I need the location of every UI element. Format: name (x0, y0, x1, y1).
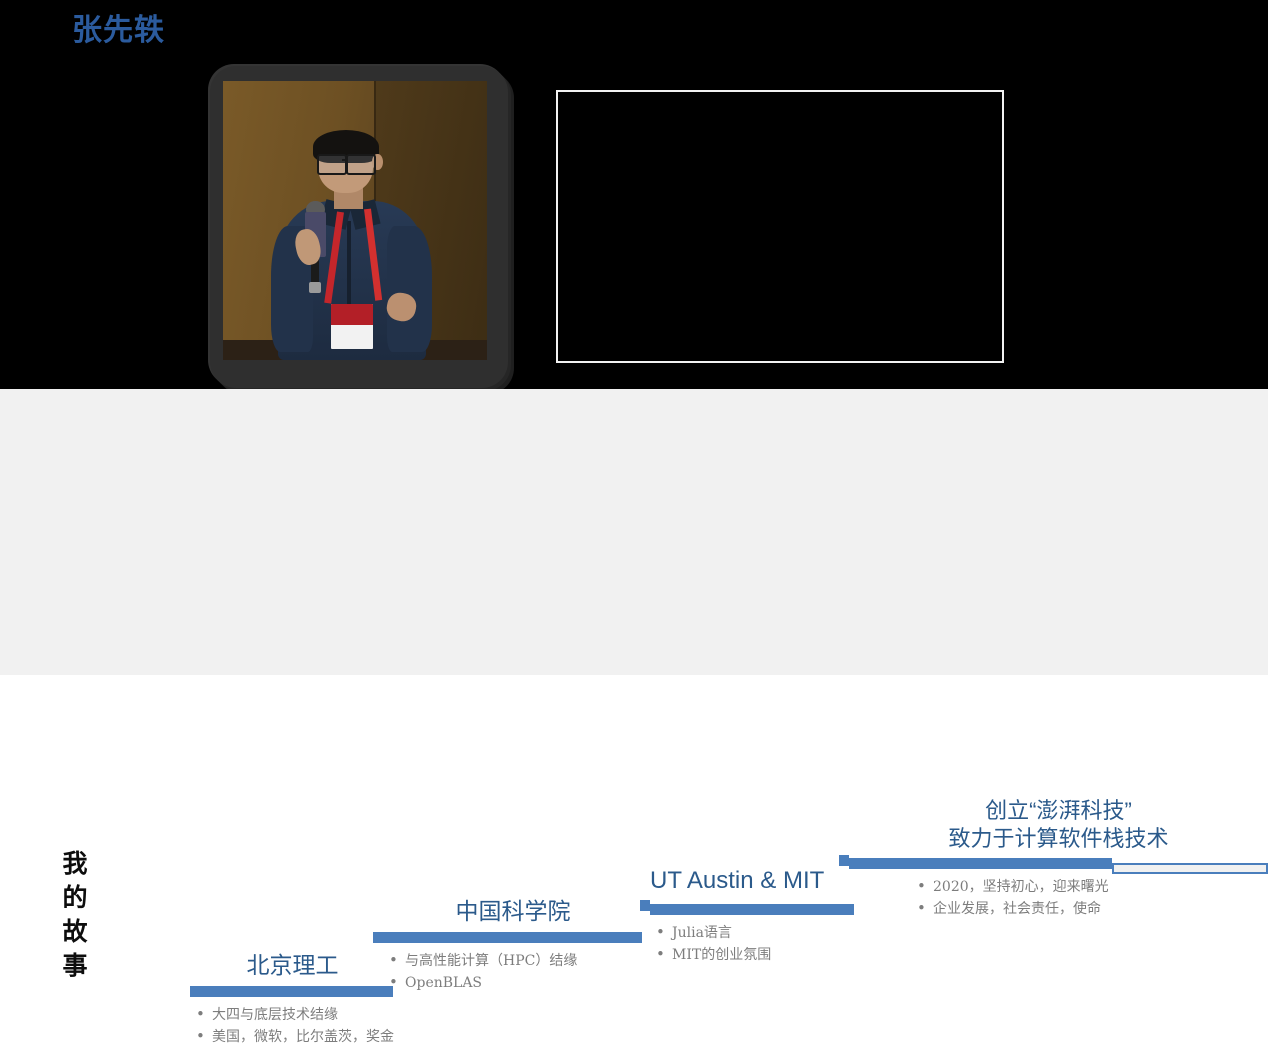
list-item: OpenBLAS (383, 972, 643, 994)
story-label-char: 我 (60, 847, 90, 881)
stage-bar-wrapper (849, 858, 1268, 869)
story-label-char: 故 (60, 915, 90, 949)
speaker-photo-frame (210, 66, 508, 388)
stage-title-line-1: 创立“澎湃科技” (849, 797, 1268, 825)
stage-title: 中国科学院 (383, 897, 643, 926)
story-label-char: 的 (60, 881, 90, 915)
story-label-char: 事 (60, 949, 90, 983)
timeline-stage-perfxlab: 创立“澎湃科技” 致力于计算软件栈技术 2020，坚持初心，迎来曙光 企业发展，… (849, 797, 1268, 920)
stage-accent-bar (190, 986, 393, 997)
photo-person-right-arm (387, 226, 432, 352)
photo-name-badge (331, 304, 373, 349)
story-vertical-label: 我 的 故 事 (60, 847, 90, 983)
list-item: 与高性能计算（HPC）结缘 (383, 950, 643, 972)
stage-bullet-list: 大四与底层技术结缘 美国，微软，比尔盖茨，奖金 (190, 1004, 395, 1048)
stage-accent-bar (383, 932, 642, 943)
stage-accent-bar (849, 858, 1112, 869)
stage-connector-tick (373, 932, 383, 943)
stage-title: 创立“澎湃科技” 致力于计算软件栈技术 (849, 797, 1268, 853)
stage-title-line-2: 致力于计算软件栈技术 (849, 825, 1268, 853)
stage-accent-bar-outline (1112, 863, 1268, 874)
photo-eyeglasses-bridge (342, 159, 349, 161)
stage-bullet-list: 2020，坚持初心，迎来曙光 企业发展，社会责任，使命 (911, 876, 1268, 920)
stage-connector-tick (839, 855, 849, 866)
photo-name-badge-header (331, 304, 373, 325)
top-black-band: 张先轶 (0, 0, 1268, 389)
stage-title: 北京理工 (190, 951, 395, 980)
stage-connector-tick (640, 900, 650, 911)
video-placeholder-box[interactable] (556, 90, 1004, 363)
stage-bullet-list: Julia语言 MIT的创业氛围 (650, 922, 855, 966)
photo-eyeglasses-left-lens (317, 154, 347, 175)
timeline-stage-bjit: 北京理工 大四与底层技术结缘 美国，微软，比尔盖茨，奖金 (190, 951, 395, 1048)
list-item: MIT的创业氛围 (650, 944, 855, 966)
page-title: 张先轶 (72, 12, 165, 50)
timeline-panel: 我 的 故 事 北京理工 大四与底层技术结缘 美国，微软，比尔盖茨，奖金 中国科… (0, 389, 1268, 675)
list-item: Julia语言 (650, 922, 855, 944)
stage-accent-bar (650, 904, 854, 915)
list-item: 企业发展，社会责任，使命 (911, 898, 1268, 920)
timeline-stage-ut-austin-mit: UT Austin & MIT Julia语言 MIT的创业氛围 (650, 866, 855, 966)
timeline-stage-cas: 中国科学院 与高性能计算（HPC）结缘 OpenBLAS (383, 897, 643, 994)
list-item: 大四与底层技术结缘 (190, 1004, 395, 1026)
list-item: 2020，坚持初心，迎来曙光 (911, 876, 1268, 898)
stage-title: UT Austin & MIT (650, 866, 855, 895)
photo-eyeglasses-right-lens (346, 154, 376, 175)
photo-microphone-tip (309, 282, 321, 293)
stage-bullet-list: 与高性能计算（HPC）结缘 OpenBLAS (383, 950, 643, 994)
speaker-photo (223, 81, 487, 360)
list-item: 美国，微软，比尔盖茨，奖金 (190, 1026, 395, 1048)
